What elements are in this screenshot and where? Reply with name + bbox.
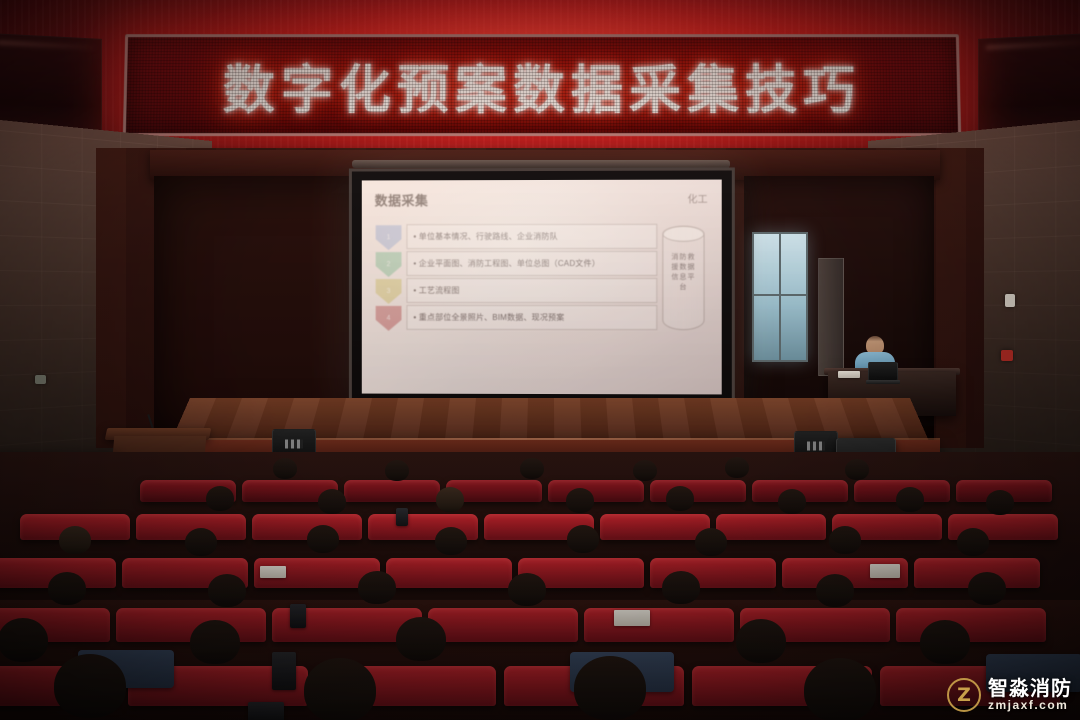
- slide-chevron-3: 3: [376, 279, 402, 304]
- speaker-grill-icon: [285, 440, 303, 449]
- database-label-line: 消防救: [663, 253, 703, 263]
- attendee-phone: [396, 508, 408, 526]
- slide-chevron-2-index: 2: [387, 261, 391, 268]
- database-label-line: 援数据: [663, 263, 703, 273]
- attendee: [52, 526, 98, 570]
- attendee-head: [208, 574, 246, 607]
- attendee: [950, 528, 996, 572]
- database-label-line: 台: [663, 283, 703, 293]
- attendee-head: [307, 525, 339, 553]
- attendee-head: [778, 489, 806, 514]
- attendee-head: [662, 571, 700, 604]
- attendee: [628, 460, 662, 492]
- attendee-head: [59, 526, 91, 554]
- attendee: [180, 620, 250, 684]
- attendee: [40, 654, 140, 720]
- attendee: [840, 459, 874, 491]
- watermark-texts: 智淼消防 zmjaxf.com: [988, 678, 1072, 712]
- attendee: [790, 658, 890, 720]
- attendee: [428, 527, 474, 571]
- led-banner-title: 数字化预案数据采集技巧: [126, 37, 958, 133]
- attendee-head: [736, 619, 786, 663]
- slide-chevron-4: 4: [376, 306, 402, 331]
- slide-title: 数据采集: [375, 190, 709, 210]
- database-cylinder-icon: 消防救 援数据 信息平 台: [662, 226, 704, 330]
- attendee-head: [396, 617, 446, 661]
- attendee-head: [508, 573, 546, 606]
- attendee-head: [725, 457, 749, 478]
- attendee-head: [968, 572, 1006, 605]
- fire-alarm-call-point-icon-right: [1001, 350, 1013, 361]
- attendee-head: [804, 658, 876, 720]
- attendee-head: [633, 460, 657, 481]
- attendee-head: [318, 489, 346, 514]
- attendee-head: [273, 458, 297, 479]
- attendee-head: [986, 490, 1014, 515]
- attendee-handout: [870, 564, 900, 578]
- auditorium-scene: 数字化预案数据采集技巧: [0, 0, 1080, 720]
- attendee: [430, 487, 470, 525]
- brand-logo-icon: Z: [947, 678, 981, 712]
- attendee: [380, 460, 414, 492]
- attendee: [560, 656, 660, 720]
- attendee: [200, 486, 240, 524]
- attendee-handout: [614, 610, 650, 626]
- window-behind-presenter: [752, 232, 808, 362]
- attendee-head: [845, 459, 869, 480]
- attendee: [808, 574, 862, 624]
- attendee-head: [920, 620, 970, 664]
- attendee: [312, 489, 352, 527]
- projection-screen-surface: 数据采集 化工 1 2 3: [362, 180, 722, 395]
- slide-chevron-3-index: 3: [387, 288, 391, 295]
- slide-row: • 工艺流程图: [406, 278, 657, 303]
- attendee-head: [385, 460, 409, 481]
- led-banner-board: 数字化预案数据采集技巧: [123, 34, 961, 136]
- presentation-slide: 数据采集 化工 1 2 3: [362, 180, 722, 395]
- slide-database-column: 消防救 援数据 信息平 台: [657, 224, 709, 383]
- attendee: [772, 489, 812, 527]
- projection-screen: 数据采集 化工 1 2 3: [349, 167, 735, 408]
- attendee: [40, 572, 94, 622]
- slide-chevron-column: 1 2 3 4: [376, 224, 404, 381]
- watermark: Z 智淼消防 zmjaxf.com: [947, 678, 1072, 712]
- attendee-head: [435, 527, 467, 555]
- attendee: [980, 490, 1020, 528]
- doorway-right-slab[interactable]: [818, 258, 844, 376]
- attendee: [515, 458, 549, 490]
- brand-url: zmjaxf.com: [988, 699, 1072, 712]
- attendee: [660, 486, 700, 524]
- attendee-phone: [248, 702, 284, 720]
- presenter-laptop[interactable]: [866, 362, 900, 384]
- slide-body: 1 2 3 4: [376, 224, 710, 383]
- laptop-screen: [868, 362, 898, 381]
- attendee-head: [304, 658, 376, 720]
- attendee-head: [520, 458, 544, 479]
- attendee: [688, 528, 734, 572]
- attendee-head: [566, 488, 594, 513]
- window-mullion-vertical: [779, 234, 781, 360]
- slide-chevron-2: 2: [376, 252, 402, 277]
- attendee: [386, 617, 456, 681]
- logo-ring: [947, 678, 981, 712]
- attendee-head: [190, 620, 240, 664]
- attendee-head: [816, 574, 854, 607]
- attendee: [560, 488, 600, 526]
- attendee-head: [567, 525, 599, 553]
- attendee: [560, 525, 606, 569]
- slide-chevron-1-index: 1: [387, 234, 391, 241]
- slide-chevron-1: 1: [376, 225, 402, 250]
- attendee: [350, 571, 404, 621]
- light-switch-icon: [1005, 294, 1015, 307]
- attendee-phone: [290, 604, 306, 628]
- attendee: [890, 487, 930, 525]
- attendee-head: [54, 654, 126, 718]
- slide-row: • 单位基本情况、行驶路线、企业消防队: [406, 224, 657, 249]
- attendee: [500, 573, 554, 623]
- attendee: [290, 658, 390, 720]
- attendee-head: [574, 656, 646, 720]
- attendee: [720, 457, 754, 489]
- attendee-head: [436, 487, 464, 512]
- attendee: [726, 619, 796, 683]
- attendee: [178, 528, 224, 572]
- laptop-base: [866, 380, 900, 384]
- audience-seating-area: [0, 452, 1080, 720]
- attendee-head: [896, 487, 924, 512]
- slide-row: • 重点部位全景照片、BIM数据、现况预案: [406, 305, 657, 330]
- attendee-handout: [260, 566, 286, 578]
- slide-row-list: • 单位基本情况、行驶路线、企业消防队 • 企业平面图、消防工程图、单位总图（C…: [403, 224, 657, 382]
- attendee-head: [48, 572, 86, 605]
- presenter-papers: [838, 371, 860, 378]
- brand-name-cn: 智淼消防: [988, 678, 1072, 699]
- speaker-grill-icon: [807, 442, 825, 451]
- attendee: [268, 458, 302, 490]
- database-label-line: 信息平: [663, 273, 703, 283]
- slide-chevron-4-index: 4: [387, 315, 391, 322]
- attendee-head: [829, 526, 861, 554]
- attendee: [960, 572, 1014, 622]
- attendee-head: [185, 528, 217, 556]
- slide-canvas: 数据采集 化工 1 2 3: [362, 180, 722, 395]
- attendee-head: [206, 486, 234, 511]
- attendee: [822, 526, 868, 570]
- database-cylinder-label: 消防救 援数据 信息平 台: [663, 253, 703, 293]
- attendee-head: [695, 528, 727, 556]
- attendee: [654, 571, 708, 621]
- attendee-head: [957, 528, 989, 556]
- attendee-head: [358, 571, 396, 604]
- slide-corner-label: 化工: [687, 191, 707, 206]
- attendee: [200, 574, 254, 624]
- attendee-head: [666, 486, 694, 511]
- wall-outlet-icon: [35, 375, 46, 384]
- slide-row: • 企业平面图、消防工程图、单位总图（CAD文件）: [406, 251, 657, 276]
- attendee: [300, 525, 346, 569]
- attendee: [910, 620, 980, 684]
